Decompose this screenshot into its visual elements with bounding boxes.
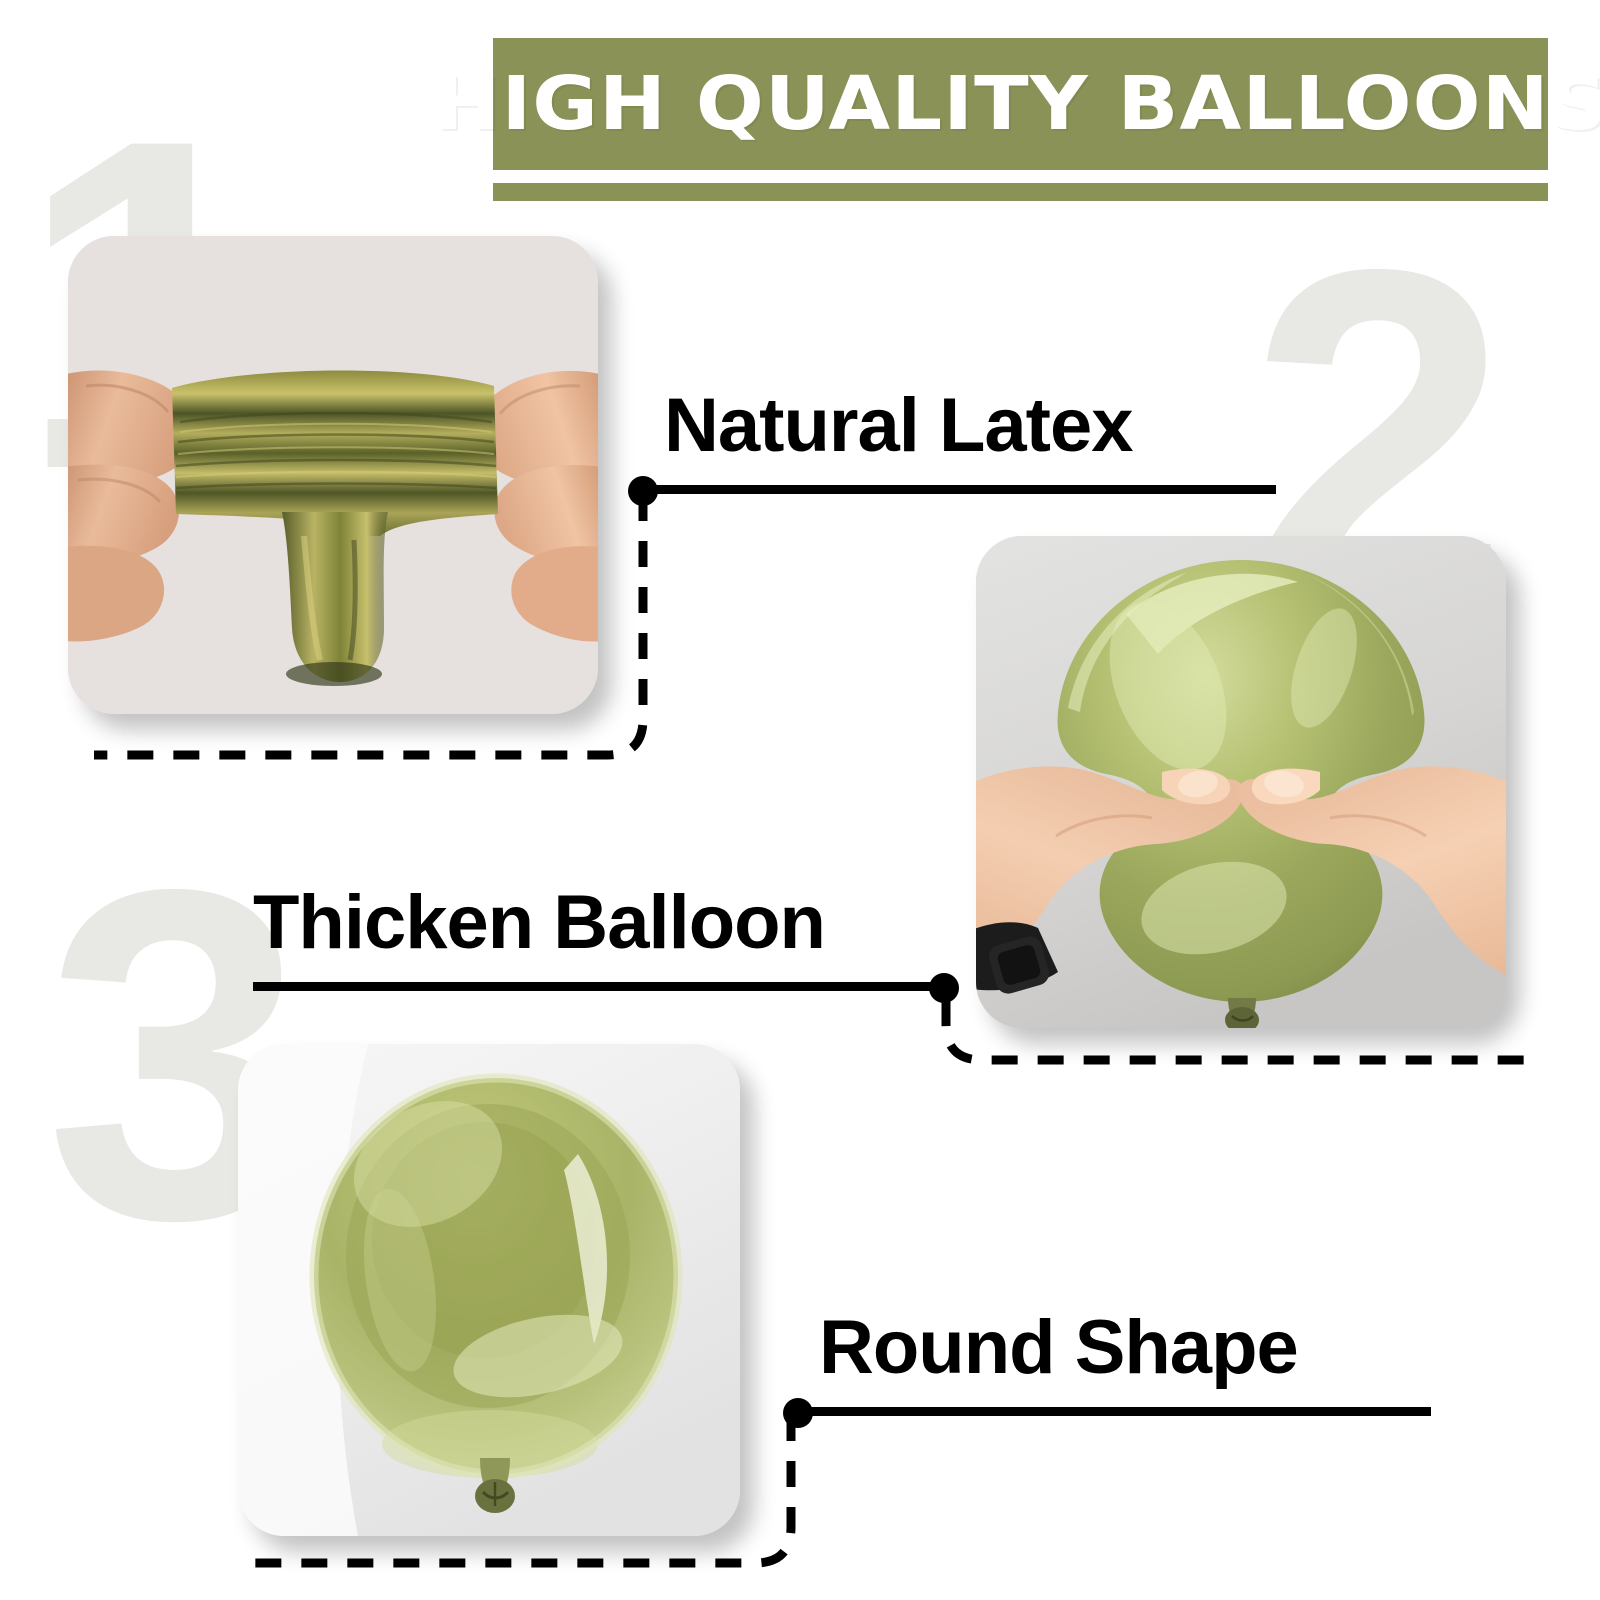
photo-squeezed-balloon [976,536,1506,1028]
header-banner: HIGH QUALITY BALLOONS [493,38,1548,170]
photo-stretched-latex [68,236,598,714]
photo-round-balloon [238,1044,740,1536]
feature-label-round-shape: Round Shape [783,1310,1298,1424]
feature-underline-row [253,973,861,999]
feature-label-text: Natural Latex [664,388,1133,464]
feature-underline-bar [642,485,1276,494]
latex-sheet [172,370,498,536]
feature-underline-row [783,1398,1298,1424]
header-accent-bar [493,183,1548,201]
feature-label-text: Thicken Balloon [253,885,825,961]
page-title: HIGH QUALITY BALLOONS [433,61,1600,147]
feature-node-dot [783,1398,813,1428]
feature-underline-bar [253,982,943,991]
photo-squeezed-balloon-art [976,536,1506,1028]
feature-underline-row [628,476,1133,502]
feature-label-thicken-balloon: Thicken Balloon [253,885,861,999]
feature-label-natural-latex: Natural Latex [628,388,1133,502]
feature-node-dot [628,476,658,506]
feature-node-dot [929,973,959,1003]
feature-label-text: Round Shape [819,1310,1298,1386]
photo-round-balloon-art [238,1044,740,1536]
photo-stretched-latex-art [68,236,598,714]
feature-underline-bar [797,1407,1431,1416]
